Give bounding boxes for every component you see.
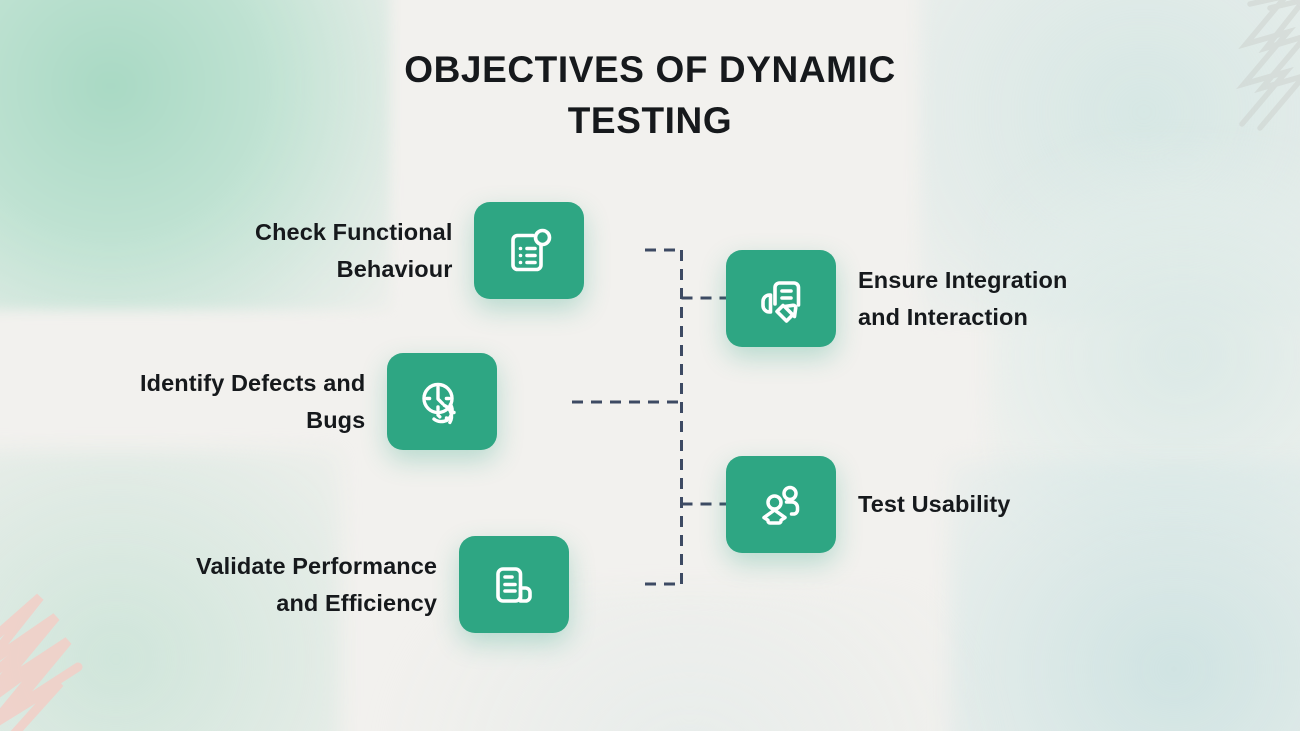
item-label-1: Ensure Integration and Interaction: [836, 262, 1067, 335]
item-icon-tile-2[interactable]: [387, 353, 497, 450]
item-label-2: Identify Defects and Bugs: [140, 365, 387, 438]
item-icon-tile-4[interactable]: [459, 536, 569, 633]
item-identify-defects-and-bugs[interactable]: Identify Defects and Bugs: [140, 353, 497, 450]
item-ensure-integration-and-interaction[interactable]: Ensure Integration and Interaction: [726, 250, 1067, 347]
item-validate-performance-and-efficiency[interactable]: Validate Performance and Efficiency: [196, 536, 569, 633]
document-tag-icon: [753, 271, 809, 327]
item-label-0: Check Functional Behaviour: [255, 214, 474, 287]
item-icon-tile-3[interactable]: [726, 456, 836, 553]
item-label-3: Test Usability: [836, 486, 1010, 523]
users-group-icon: [753, 477, 809, 533]
item-test-usability[interactable]: Test Usability: [726, 456, 1010, 553]
slide-canvas: OBJECTIVES OF DYNAMICTESTING Check Funct…: [0, 0, 1300, 731]
item-icon-tile-0[interactable]: [474, 202, 584, 299]
item-icon-tile-1[interactable]: [726, 250, 836, 347]
document-stack-icon: [486, 557, 542, 613]
checklist-badge-icon: [501, 223, 557, 279]
item-check-functional-behaviour[interactable]: Check Functional Behaviour: [255, 202, 584, 299]
item-label-4: Validate Performance and Efficiency: [196, 548, 459, 621]
dual-clock-icon: [414, 374, 470, 430]
